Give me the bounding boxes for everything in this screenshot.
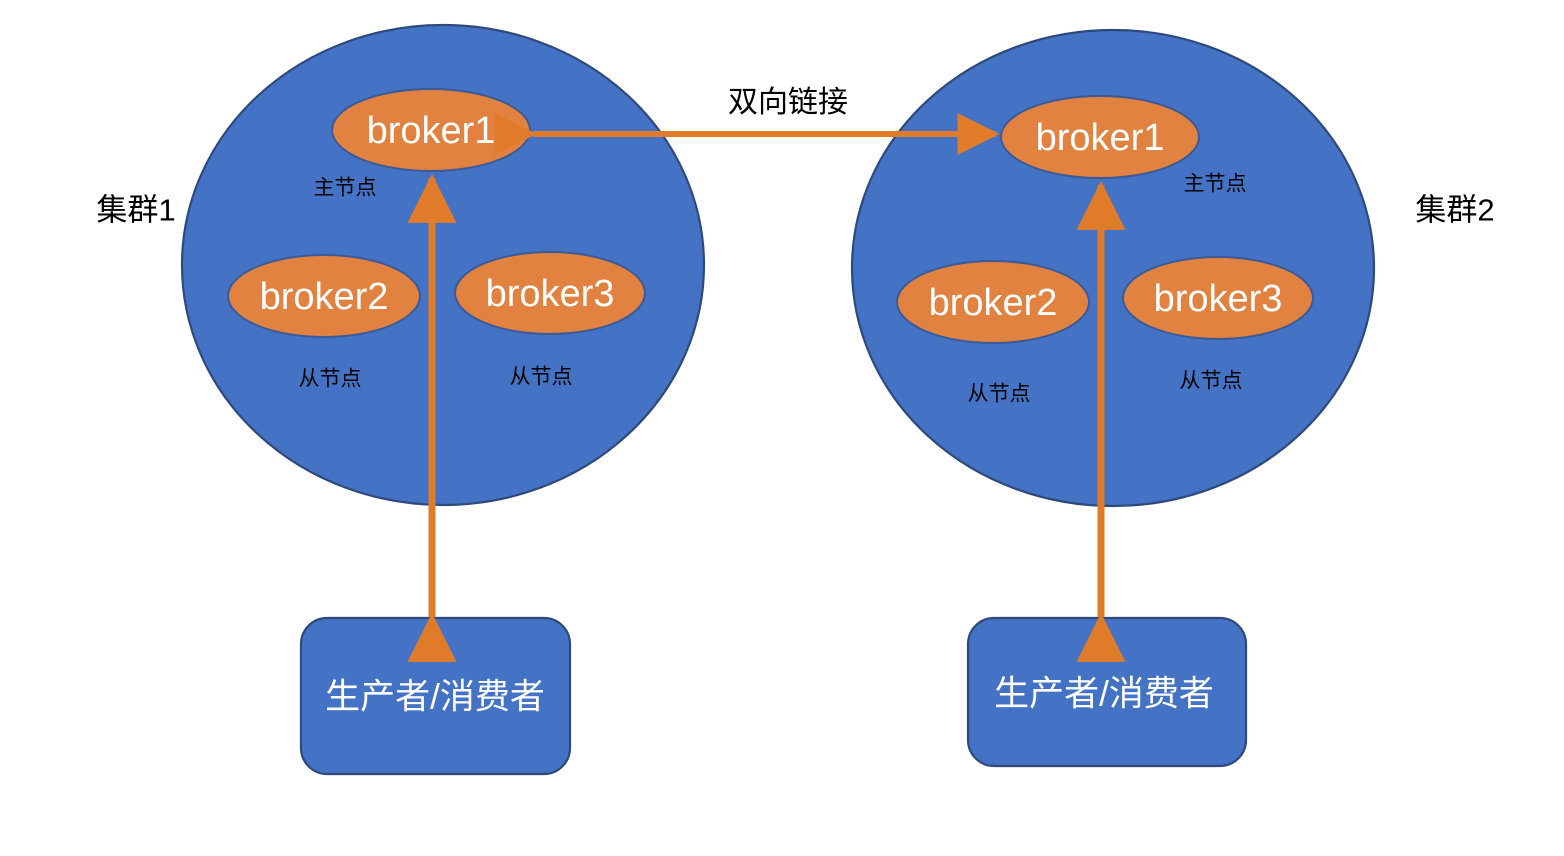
cluster2-client-box-label: 生产者/消费者 <box>994 677 1214 712</box>
cluster2-broker3-label: broker3 <box>1154 280 1283 318</box>
cluster1-broker1-label: broker1 <box>367 112 496 150</box>
cluster2-broker2-role: 从节点 <box>968 384 1031 405</box>
cluster2-broker2-label: broker2 <box>929 284 1058 322</box>
cluster2-label: 集群2 <box>1415 195 1494 226</box>
cluster1-broker1-role: 主节点 <box>314 178 377 199</box>
cluster1-client-box-label: 生产者/消费者 <box>325 680 545 715</box>
cluster2-broker1-label: broker1 <box>1036 119 1165 157</box>
diagram-shapes-layer <box>0 0 1564 856</box>
diagram-canvas: 集群1 broker1 主节点 broker2 从节点 broker3 从节点 … <box>0 0 1564 856</box>
cluster1-broker2-role: 从节点 <box>299 369 362 390</box>
cluster2-broker1-role: 主节点 <box>1184 174 1247 195</box>
cluster1-broker3-role: 从节点 <box>510 367 573 388</box>
inter-cluster-link-label: 双向链接 <box>728 88 848 118</box>
cluster1-label: 集群1 <box>96 195 175 226</box>
cluster1-broker3-label: broker3 <box>486 275 615 313</box>
cluster1-broker2-label: broker2 <box>260 278 389 316</box>
cluster2-broker3-role: 从节点 <box>1180 371 1243 392</box>
